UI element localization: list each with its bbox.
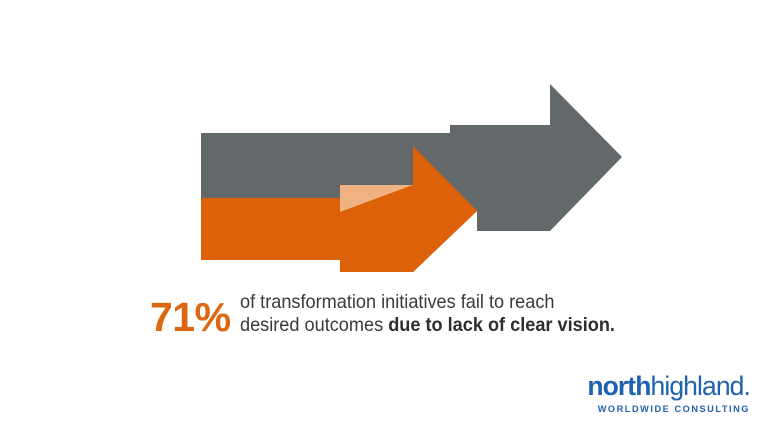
logo-word-highland: highland [651,371,744,401]
stat-line-2-emphasis: due to lack of clear vision. [388,314,615,336]
arrows-graphic [0,0,768,300]
logo-word-north: north [587,371,650,401]
stat-line-2-normal: desired outcomes [240,314,388,336]
stat-description: of transformation initiatives fail to re… [240,291,615,337]
stat-line-1: of transformation initiatives fail to re… [240,291,615,314]
stat-percent-value: 71% [150,294,231,340]
infographic-slide: 71% of transformation initiatives fail t… [0,0,768,432]
statistic-caption: 71% of transformation initiatives fail t… [0,288,768,352]
logo-tagline: WORLDWIDE CONSULTING [587,405,750,414]
northhighland-logo: northhighland. WORLDWIDE CONSULTING [587,373,750,414]
logo-wordmark: northhighland. [587,373,750,400]
logo-trademark-dot: . [744,371,750,401]
stat-line-2: desired outcomes due to lack of clear vi… [240,314,615,337]
